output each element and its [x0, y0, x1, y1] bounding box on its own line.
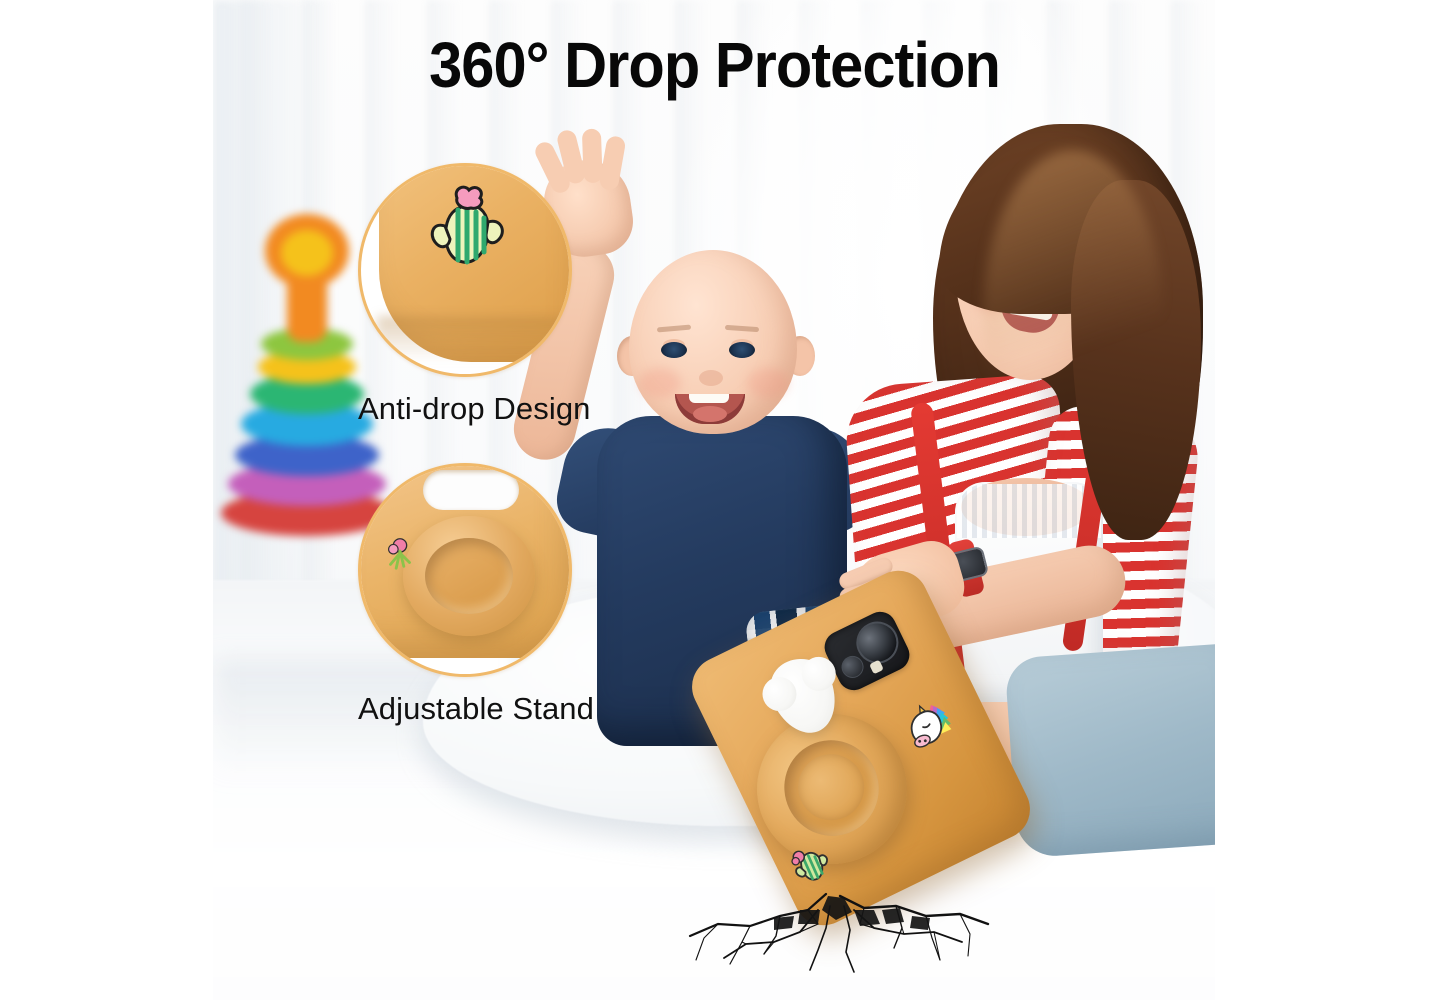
flower-sticker — [381, 534, 419, 572]
cactus-sticker — [427, 184, 509, 276]
baby-cheek-right — [747, 368, 789, 398]
callout-adjustable-stand-label: Adjustable Stand — [358, 691, 594, 727]
product-feature-image: 360° Drop Protection Anti-drop Design — [0, 0, 1429, 1000]
woman-hair-highlight — [983, 150, 1163, 480]
ring-kickstand-hole — [425, 538, 513, 614]
page-title: 360° Drop Protection — [50, 28, 1379, 102]
baby-nose — [699, 370, 723, 386]
callout-anti-drop-bubble — [358, 163, 572, 377]
ring-kickstand-closeup[interactable] — [403, 516, 535, 636]
baby-eye-left — [661, 342, 687, 358]
baby-eye-right — [729, 342, 755, 358]
callout-adjustable-stand: Adjustable Stand — [358, 463, 594, 727]
callout-adjustable-stand-bubble — [358, 463, 572, 677]
ring-kickstand-inner — [787, 743, 875, 831]
case-corner-shadow — [377, 316, 572, 362]
stand-slot — [423, 470, 519, 510]
callout-anti-drop: Anti-drop Design — [358, 163, 591, 427]
floor-crack-effect — [668, 880, 1008, 976]
ring-kickstand-hole — [768, 724, 895, 851]
callout-anti-drop-label: Anti-drop Design — [358, 391, 591, 427]
